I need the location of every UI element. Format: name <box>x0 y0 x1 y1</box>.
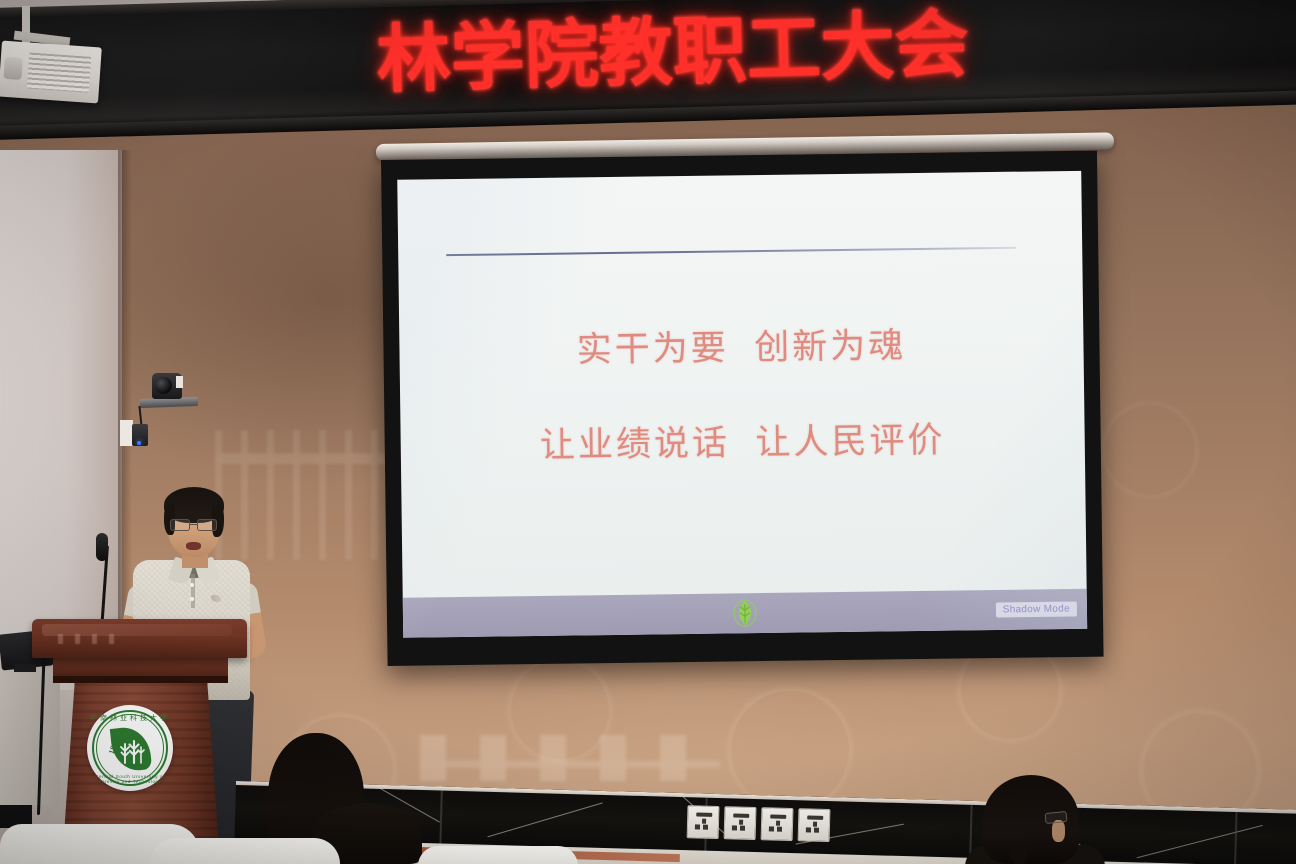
shirt-button <box>190 597 194 601</box>
audience-ear <box>1052 820 1065 842</box>
projection-screen-frame: 实干为要 创新为魂 让业绩说话 让人民评价 Shadow Mode <box>381 151 1104 666</box>
power-indicator-led <box>137 441 141 445</box>
outlet-slot <box>732 825 750 830</box>
tile-seam <box>1234 812 1237 864</box>
projection-screen-surface: 实干为要 创新为魂 让业绩说话 让人民评价 Shadow Mode <box>397 171 1087 638</box>
outlet-pin <box>702 819 706 824</box>
outlet-pin <box>739 820 743 825</box>
marble-vein <box>487 802 602 837</box>
audience-ponytail <box>1012 845 1027 864</box>
audience-glasses <box>1044 811 1067 824</box>
outlet-slot <box>769 826 787 831</box>
podium-trim-band <box>53 676 228 683</box>
slide-footer-bar: Shadow Mode <box>403 589 1087 638</box>
power-outlet[interactable] <box>798 808 831 842</box>
glasses-lens-left <box>170 519 190 531</box>
outlet-slot <box>806 827 824 832</box>
projector-vent-grille <box>27 53 91 93</box>
camera-label-tag <box>176 376 183 388</box>
slide-content: 实干为要 创新为魂 让业绩说话 让人民评价 <box>397 171 1087 638</box>
slide-headline-1: 实干为要 创新为魂 <box>576 317 906 372</box>
ceiling-projector <box>0 41 102 104</box>
wall-faded-mark-lower <box>420 735 720 781</box>
av-cabinet <box>0 655 60 805</box>
speaker-glasses <box>170 519 219 531</box>
projector-lens <box>3 57 22 80</box>
shirt-placket <box>191 574 195 608</box>
university-emblem: 中南林业科技大学 1932 Central South University o… <box>87 705 173 791</box>
microphone-capsule <box>96 533 108 561</box>
chair-cover <box>150 838 340 864</box>
emblem-english-name: Central South University of Forestry and… <box>87 774 173 784</box>
outlet-slot <box>733 813 749 817</box>
camera-lens <box>155 377 172 394</box>
tile-seam <box>439 791 442 849</box>
slide-watermark: Shadow Mode <box>996 601 1077 617</box>
green-leaf-logo <box>732 598 758 628</box>
speaker-mouth <box>186 542 201 550</box>
conference-hall-photo: 林学院教职工大会 实干为要 创新为魂 让业绩说话 让人民评价 <box>0 0 1296 864</box>
marble-vein <box>1137 825 1263 858</box>
shirt-chest-logo <box>211 595 221 602</box>
power-outlet[interactable] <box>761 807 794 841</box>
monitor-stand <box>14 664 36 672</box>
chair-cover <box>418 846 578 864</box>
outlet-slot <box>807 815 823 819</box>
outlet-pin <box>776 821 780 826</box>
outlet-slot <box>695 824 713 829</box>
shirt-button <box>190 583 194 587</box>
emblem-chinese-name: 中南林业科技大学 <box>87 713 173 723</box>
power-outlet[interactable] <box>724 806 757 840</box>
wall-faded-mark <box>215 430 395 560</box>
outlet-slot <box>696 812 712 816</box>
outlet-pin <box>813 822 817 827</box>
glasses-bridge <box>190 524 197 525</box>
emblem-tree-glyphs <box>117 735 147 765</box>
outlet-slot <box>770 814 786 818</box>
podium-engraved-text <box>58 634 124 644</box>
glasses-lens-right <box>197 519 217 531</box>
slide-headline-2: 让业绩说话 让人民评价 <box>540 412 946 468</box>
power-outlet[interactable] <box>687 805 720 839</box>
